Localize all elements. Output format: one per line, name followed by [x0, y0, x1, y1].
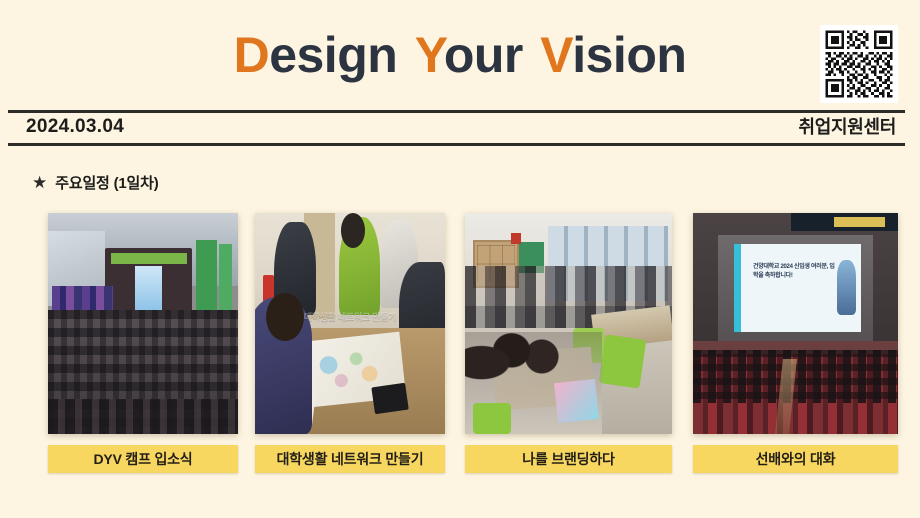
schedule-caption-4: 선배와의 대화 [693, 445, 898, 473]
info-bar-rule-top [8, 110, 905, 113]
photo-talk-with-seniors: 건양대학교 2024 신입생 여러분, 입학을 축하합니다! [693, 213, 898, 434]
title-word-vision: Vision [540, 27, 686, 83]
schedule-caption-3: 나를 브랜딩하다 [465, 445, 672, 473]
photo-campus-life-networking: 대학생활 네트워크 만들기 [255, 213, 445, 434]
schedule-caption-1: DYV 캠프 입소식 [48, 445, 238, 473]
title-cap-v: V [540, 27, 572, 83]
star-icon: ★ [32, 174, 47, 191]
title-word-your: Your [415, 27, 523, 83]
page-title: Design Your Vision [0, 14, 920, 96]
section-heading: ★ 주요일정 (1일차) [32, 170, 159, 194]
schedule-card-3[interactable]: 나를 브랜딩하다 [465, 213, 672, 473]
title-rest-design: esign [269, 27, 397, 83]
qr-code-icon[interactable] [820, 25, 898, 103]
gym-stage-screen [135, 266, 162, 310]
schedule-card-4[interactable]: 건양대학교 2024 신입생 여러분, 입학을 축하합니다! 선배와의 대화 [693, 213, 898, 473]
info-bar-rule-bottom [8, 143, 905, 146]
title-row: Design Your Vision [0, 14, 920, 100]
gym-flag-row [52, 286, 113, 313]
schedule-card-2[interactable]: 대학생활 네트워크 만들기 대학생활 네트워크 만들기 [255, 213, 445, 473]
classroom-folder [554, 379, 599, 423]
auditorium-slide-text: 건양대학교 2024 신입생 여러분, 입학을 축하합니다! [753, 263, 837, 281]
photo-2-overlay-text: 대학생활 네트워크 만들기 [278, 310, 422, 323]
photo-1-scene [48, 213, 238, 434]
gym-green-panel-right-2 [219, 244, 232, 310]
auditorium-audience [693, 350, 898, 403]
auditorium-slide: 건양대학교 2024 신입생 여러분, 입학을 축하합니다! [734, 244, 861, 332]
schedule-card-1[interactable]: DYV 캠프 입소식 [48, 213, 238, 473]
classroom-chair-1 [598, 334, 646, 388]
exit-sign [511, 233, 521, 244]
gym-green-panel-right [196, 240, 217, 320]
classroom-chair-3 [473, 403, 510, 434]
section-heading-label: 주요일정 (1일차) [55, 172, 158, 193]
poster-canvas: Design Your Vision [0, 0, 920, 518]
title-word-design: Design [234, 27, 398, 83]
gym-seated-crowd [48, 310, 238, 434]
gym-stage-banner [111, 253, 187, 264]
photo-3-scene [465, 213, 672, 434]
auditorium-top-banner [791, 213, 898, 231]
title-rest-vision: ision [572, 27, 686, 83]
photo-2-scene: 대학생활 네트워크 만들기 [255, 213, 445, 434]
workshop-phone [371, 383, 409, 414]
photo-4-scene: 건양대학교 2024 신입생 여러분, 입학을 축하합니다! [693, 213, 898, 434]
department-name: 취업지원센터 [798, 112, 896, 142]
title-cap-d: D [234, 27, 270, 83]
title-cap-y: Y [415, 27, 444, 83]
photo-personal-branding [465, 213, 672, 434]
schedule-photo-grid: DYV 캠프 입소식 [0, 213, 920, 475]
title-rest-your: our [444, 27, 523, 83]
schedule-caption-2: 대학생활 네트워크 만들기 [255, 445, 445, 473]
event-date: 2024.03.04 [26, 112, 124, 142]
photo-camp-opening-ceremony [48, 213, 238, 434]
